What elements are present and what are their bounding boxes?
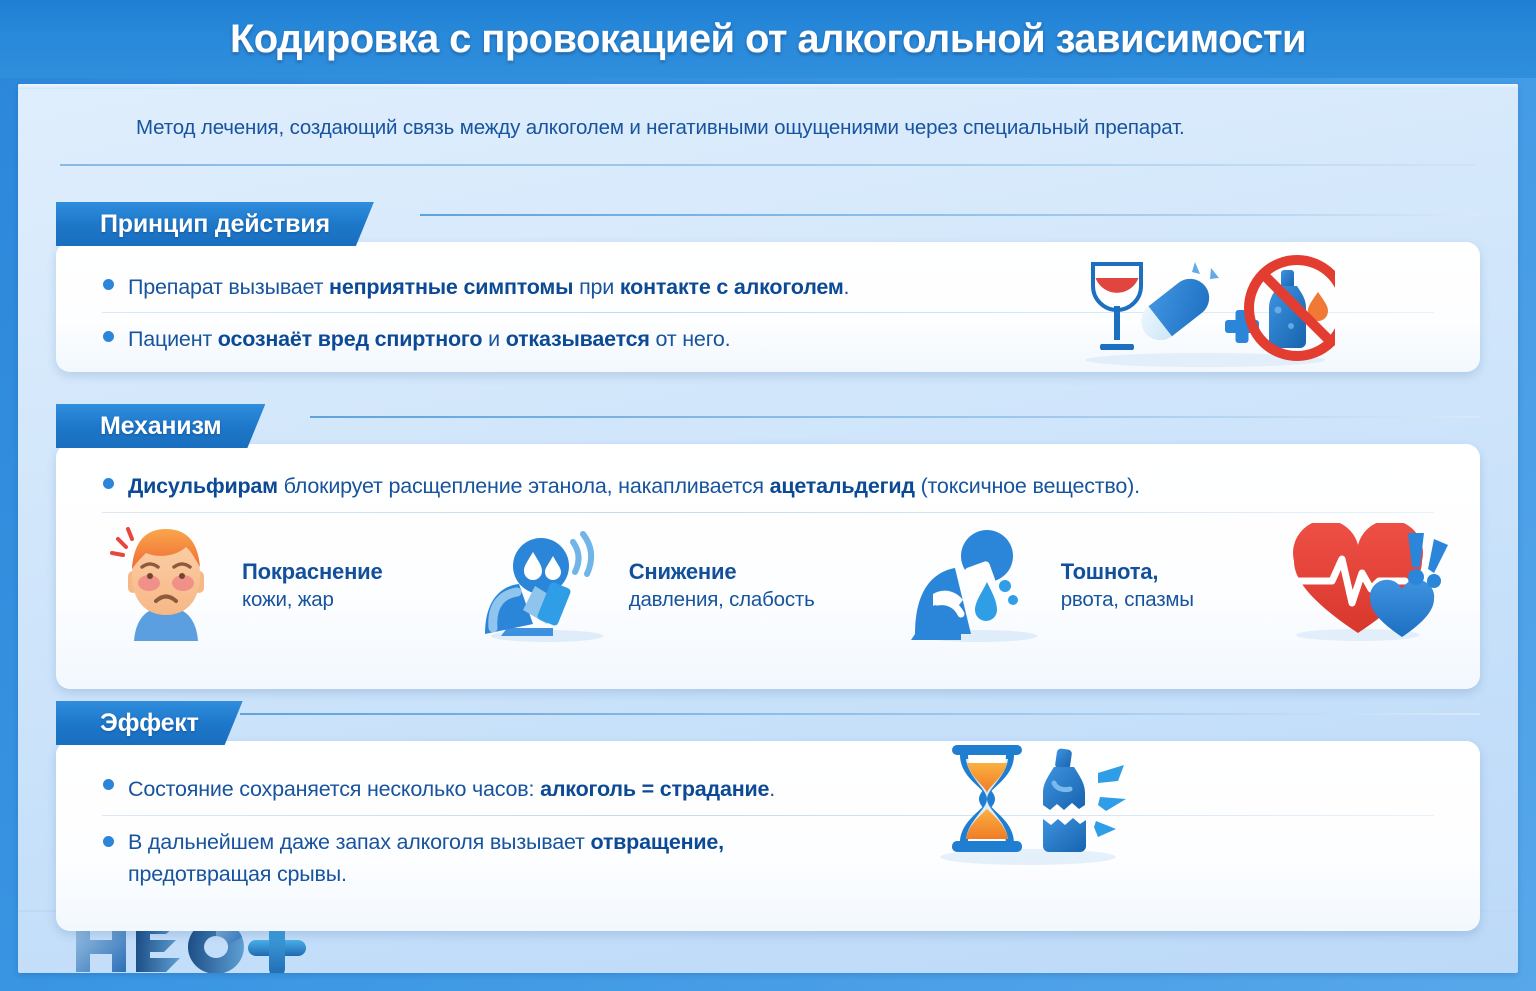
list-item: В дальнейшем даже запах алкоголя вызывае… <box>56 826 1480 890</box>
symptom-nausea: Тошнота, рвота, спазмы <box>909 524 1194 647</box>
section-title-effect: Эффект <box>56 701 243 745</box>
bullet-text: Пациент осознаёт вред спиртного и отказы… <box>128 324 730 354</box>
flushed-face-icon <box>102 523 230 648</box>
bullet-text: Дисульфирам блокирует расщепление этанол… <box>128 471 1140 501</box>
symptom-labels: Снижение давления, слабость <box>629 558 815 614</box>
section-title-principle: Принцип действия <box>56 202 374 246</box>
card-effect: Состояние сохраняется несколько часов: а… <box>56 741 1480 931</box>
bullet-text: Состояние сохраняется несколько часов: а… <box>128 774 775 804</box>
bullet-dot-icon <box>103 779 114 790</box>
section-principle: Принцип действия Препарат вызывает непри… <box>56 202 1480 372</box>
content-panel: Метод лечения, создающий связь между алк… <box>18 84 1518 973</box>
ribbon-rule <box>310 416 1480 418</box>
bullet-dot-icon <box>103 331 114 342</box>
section-mechanism: Механизм Дисульфирам блокирует расщеплен… <box>56 404 1480 689</box>
bullet-dot-icon <box>103 478 114 489</box>
symptom-line1: Покраснение <box>242 558 383 586</box>
ribbon-rule <box>420 214 1480 216</box>
intro-divider <box>60 164 1476 166</box>
bullet-list-effect: Состояние сохраняется несколько часов: а… <box>56 769 1480 890</box>
ribbon-rule <box>240 713 1480 715</box>
wine-glass-pill-plus-no-alcohol-icon <box>1075 248 1335 373</box>
hourglass-broken-bottle-icon <box>928 737 1138 872</box>
card-principle: Препарат вызывает неприятные симптомы пр… <box>56 242 1480 372</box>
symptom-low-pressure: Снижение давления, слабость <box>477 524 815 647</box>
section-effect: Эффект Состояние сохраняется несколько ч… <box>56 701 1480 931</box>
bullet-text: Препарат вызывает неприятные симптомы пр… <box>128 272 849 302</box>
list-item: Состояние сохраняется несколько часов: а… <box>56 769 1480 809</box>
infographic-frame: Кодировка с провокацией от алкогольной з… <box>0 0 1536 991</box>
vomiting-person-icon <box>909 524 1049 647</box>
section-title-mechanism: Механизм <box>56 404 265 448</box>
card-divider <box>102 815 1434 816</box>
symptom-line2: рвота, спазмы <box>1061 586 1194 614</box>
intro-text: Метод лечения, создающий связь между алк… <box>136 114 1456 142</box>
symptom-line1: Снижение <box>629 558 815 586</box>
card-divider <box>102 512 1434 513</box>
symptom-heart-alert <box>1288 523 1448 648</box>
card-mechanism: Дисульфирам блокирует расщепление этанол… <box>56 444 1480 689</box>
bullet-text: В дальнейшем даже запах алкоголя вызывае… <box>128 826 724 890</box>
symptom-line2: давления, слабость <box>629 586 815 614</box>
symptom-labels: Покраснение кожи, жар <box>242 558 383 614</box>
dizzy-person-sweating-icon <box>477 524 617 647</box>
symptom-labels: Тошнота, рвота, спазмы <box>1061 558 1194 614</box>
bullet-dot-icon <box>103 279 114 290</box>
list-item: Дисульфирам блокирует расщепление этанол… <box>56 468 1480 504</box>
symptom-line2: кожи, жар <box>242 586 383 614</box>
heartbeat-alert-icon <box>1288 523 1448 648</box>
page-title: Кодировка с провокацией от алкогольной з… <box>230 17 1306 62</box>
bullet-list-mechanism: Дисульфирам блокирует расщепление этанол… <box>56 468 1480 513</box>
bullet-dot-icon <box>103 836 114 847</box>
title-bar: Кодировка с провокацией от алкогольной з… <box>0 0 1536 78</box>
symptom-row: Покраснение кожи, жар <box>56 513 1480 648</box>
symptom-line1: Тошнота, <box>1061 558 1194 586</box>
symptom-flushed-skin: Покраснение кожи, жар <box>102 523 383 648</box>
